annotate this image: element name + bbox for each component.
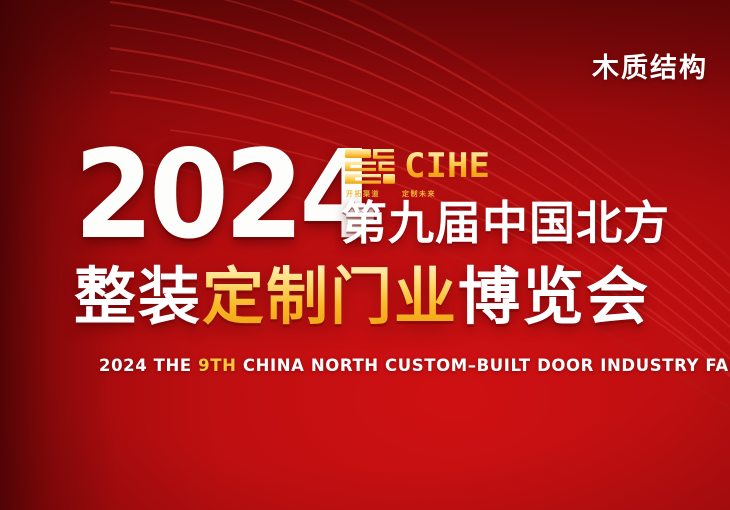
headline-line-2: 整装定制门业博览会: [74, 266, 650, 328]
cihe-logo: CIHE 开拓渠道 定制未来: [343, 146, 519, 199]
english-subtitle-highlight: 9TH: [198, 356, 236, 375]
headline-line-2-part2: 定制门业: [202, 260, 458, 333]
logo-row: CIHE: [343, 146, 519, 186]
headline-top-row: 2024: [0, 140, 730, 250]
corner-category-tag: 木质结构: [592, 46, 708, 85]
english-subtitle: 2024 THE 9TH CHINA NORTH CUSTOM–BUILT DO…: [99, 358, 730, 375]
event-poster: 木质结构 2024: [0, 0, 730, 510]
cihe-stepped-mark-icon: [343, 146, 397, 186]
headline-line-2-part3: 博览会: [458, 260, 650, 333]
cihe-wordmark: CIHE: [404, 149, 490, 183]
english-subtitle-prefix: 2024 THE: [99, 356, 198, 375]
headline-line-2-part1: 整装: [74, 260, 202, 333]
headline-line-1: 第九届中国北方: [341, 200, 670, 246]
year-number: 2024: [74, 134, 374, 256]
poster-content: 2024: [0, 140, 730, 250]
english-subtitle-suffix: CHINA NORTH CUSTOM–BUILT DOOR INDUSTRY F…: [237, 356, 730, 375]
